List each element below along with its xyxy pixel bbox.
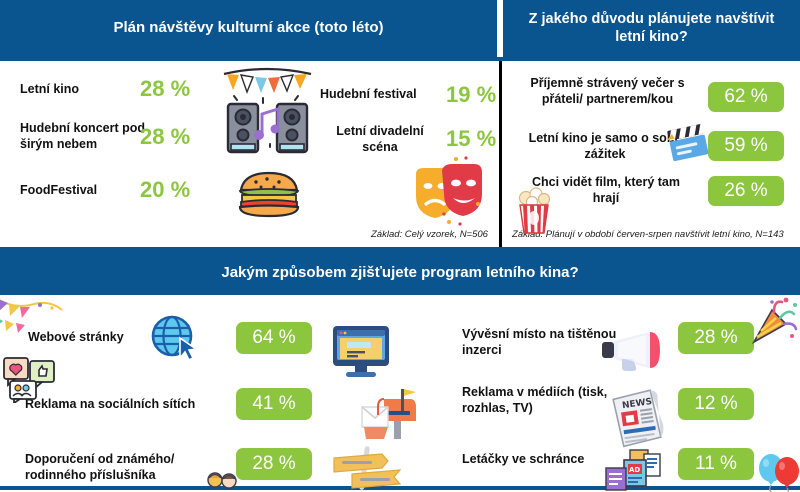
row-badge-prijemne-vecer: 62 % (708, 82, 784, 112)
row-badge-webove-stranky: 64 % (236, 322, 312, 354)
panel-title-bottom: Jakým způsobem zjišťujete program letníh… (0, 251, 800, 295)
popcorn-icon (513, 185, 555, 235)
vertical-divider (499, 61, 502, 247)
divider-strip-top (0, 57, 800, 61)
monitor-icon (330, 322, 392, 380)
signpost-icon (330, 444, 402, 490)
row-value-hudebni-festival: 19 % (446, 82, 496, 108)
row-badge-letacky: 11 % (678, 448, 754, 480)
row-value-letni-divadelni-scena: 15 % (446, 126, 496, 152)
party-speakers-icon (220, 62, 315, 162)
row-label-letni-divadelni-scena: Letní divadelní scéna (320, 124, 440, 155)
row-badge-reklama-mediich: 12 % (678, 388, 754, 420)
mailbox-icon (358, 385, 420, 441)
row-badge-kino-zazitek: 59 % (708, 131, 784, 161)
row-value-hudebni-koncert: 28 % (140, 124, 190, 150)
row-badge-vyvesni-misto: 28 % (678, 322, 754, 354)
row-label-prijemne-vecer: Příjemně strávený večer s přáteli/ partn… (515, 76, 700, 107)
row-value-letni-kino: 28 % (140, 76, 190, 102)
row-label-kino-zazitek: Letní kino je samo o sobě zážitek (520, 131, 690, 162)
balloons-icon (757, 452, 800, 492)
theater-masks-icon (408, 156, 488, 232)
row-label-doporuceni: Doporučení od známého/ rodinného přísluš… (25, 452, 225, 483)
globe-cursor-icon (150, 314, 200, 362)
row-value-foodfestival: 20 % (140, 177, 190, 203)
row-label-hudebni-festival: Hudební festival (320, 87, 460, 103)
clapperboard-icon (666, 122, 710, 164)
svg-text:AD: AD (629, 466, 640, 474)
party-popper-icon (752, 296, 798, 344)
infographic-page: Plán návštěvy kulturní akce (toto léto) … (0, 0, 800, 490)
row-badge-reklama-socialni: 41 % (236, 388, 312, 420)
flyers-icon: AD (600, 448, 664, 492)
row-badge-chci-videt-film: 26 % (708, 176, 784, 206)
megaphone-icon (600, 330, 666, 372)
burger-icon (236, 166, 302, 222)
speech-bubbles-icon (205, 468, 241, 492)
panel-title-top-left: Plán návštěvy kulturní akce (toto léto) (0, 0, 497, 57)
social-bubbles-icon (2, 355, 60, 403)
row-badge-doporuceni: 28 % (236, 448, 312, 480)
newspaper-icon: NEWS (610, 388, 668, 448)
panel-title-top-right: Z jakého důvodu plánujete navštívit letn… (503, 0, 800, 57)
bunting-icon (0, 296, 64, 336)
